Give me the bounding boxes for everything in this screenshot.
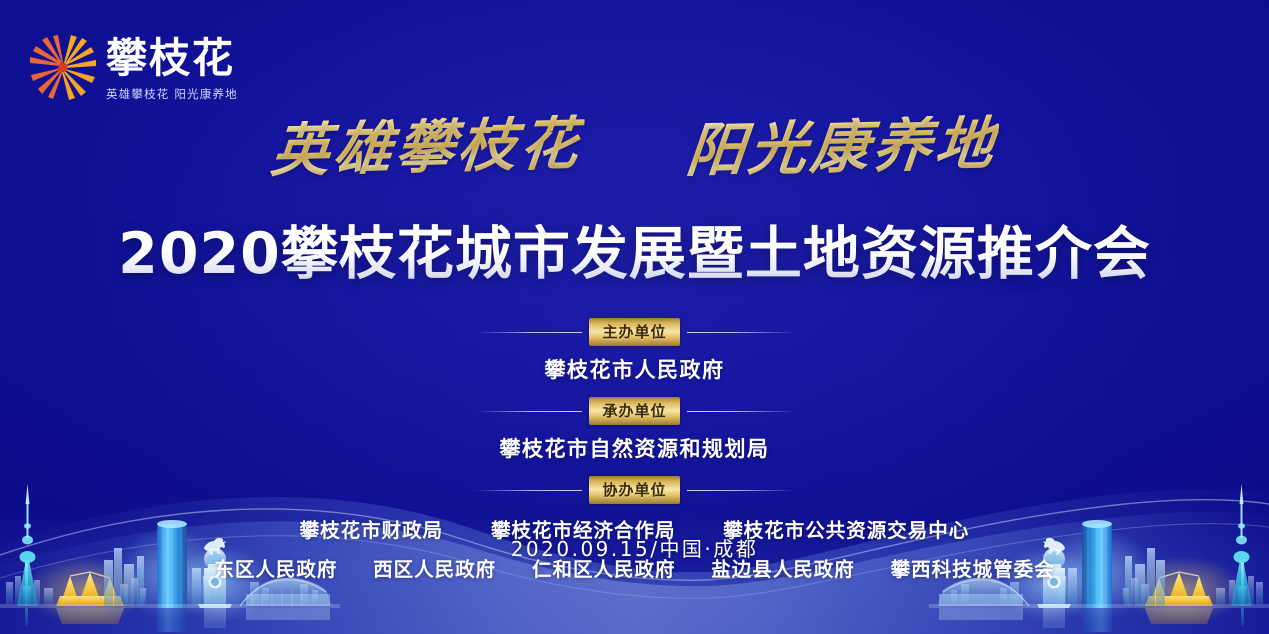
- calligraphy-slogans: 英雄攀枝花 阳光康养地: [0, 118, 1269, 176]
- divider-left: [474, 332, 582, 333]
- poster-canvas: 攀枝花 英雄攀枝花 阳光康养地 英雄攀枝花 阳光康养地 2020攀枝花城市发展暨…: [0, 0, 1269, 634]
- slogan-sunshine: 阳光康养地: [683, 114, 1000, 180]
- host-name: 攀枝花市人民政府: [0, 354, 1269, 384]
- divider-right: [687, 490, 795, 491]
- co-organizer-badge-row: 协办单位: [0, 476, 1269, 504]
- page-title: 2020攀枝花城市发展暨土地资源推介会: [0, 224, 1269, 286]
- divider-left: [474, 411, 582, 412]
- host-badge-row: 主办单位: [0, 318, 1269, 346]
- divider-left: [474, 490, 582, 491]
- co-organizer-badge: 协办单位: [589, 476, 679, 504]
- organizer-badge-row: 承办单位: [0, 397, 1269, 425]
- slogan-hero: 英雄攀枝花: [269, 114, 586, 180]
- organizer-name: 攀枝花市自然资源和规划局: [0, 433, 1269, 463]
- logo-tagline: 英雄攀枝花 阳光康养地: [106, 86, 238, 102]
- brand-logo[interactable]: 攀枝花 英雄攀枝花 阳光康养地: [26, 28, 238, 102]
- host-badge: 主办单位: [589, 318, 679, 346]
- sunburst-icon: [26, 28, 100, 102]
- organizer-badge: 承办单位: [589, 397, 679, 425]
- event-date-location: 2020.09.15/中国·成都: [0, 533, 1269, 562]
- divider-right: [687, 411, 795, 412]
- logo-brand-text: 攀枝花: [106, 38, 238, 79]
- divider-right: [687, 332, 795, 333]
